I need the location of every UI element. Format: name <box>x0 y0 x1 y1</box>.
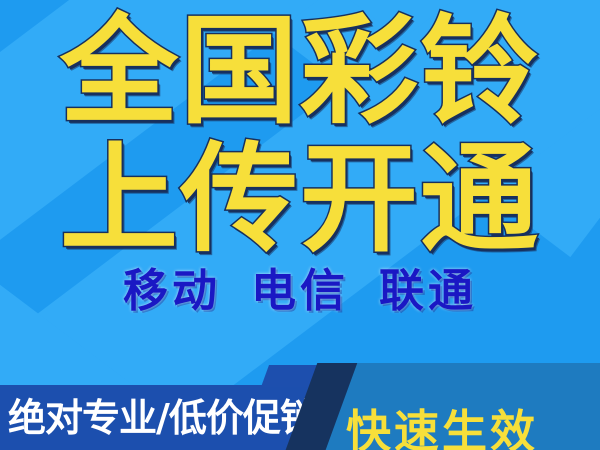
carrier-item-mobile: 移动 <box>123 268 221 313</box>
carrier-item-telecom: 电信 <box>251 268 349 313</box>
promo-poster: 全国彩铃 上传开通 移动 电信 联通 绝对专业/低价促销 快速生效 <box>0 0 600 450</box>
bottom-bar: 绝对专业/低价促销 快速生效 <box>0 385 600 450</box>
bottom-right-panel-inner: 快速生效 <box>340 363 600 450</box>
bottom-left-panel: 绝对专业/低价促销 <box>0 385 330 450</box>
carrier-item-unicom: 联通 <box>379 268 477 313</box>
bottom-right-label: 快速生效 <box>346 409 538 450</box>
carrier-list: 移动 电信 联通 <box>0 268 600 313</box>
bottom-right-panel: 快速生效 <box>323 363 600 450</box>
bottom-left-label: 绝对专业/低价促销 <box>8 399 317 437</box>
